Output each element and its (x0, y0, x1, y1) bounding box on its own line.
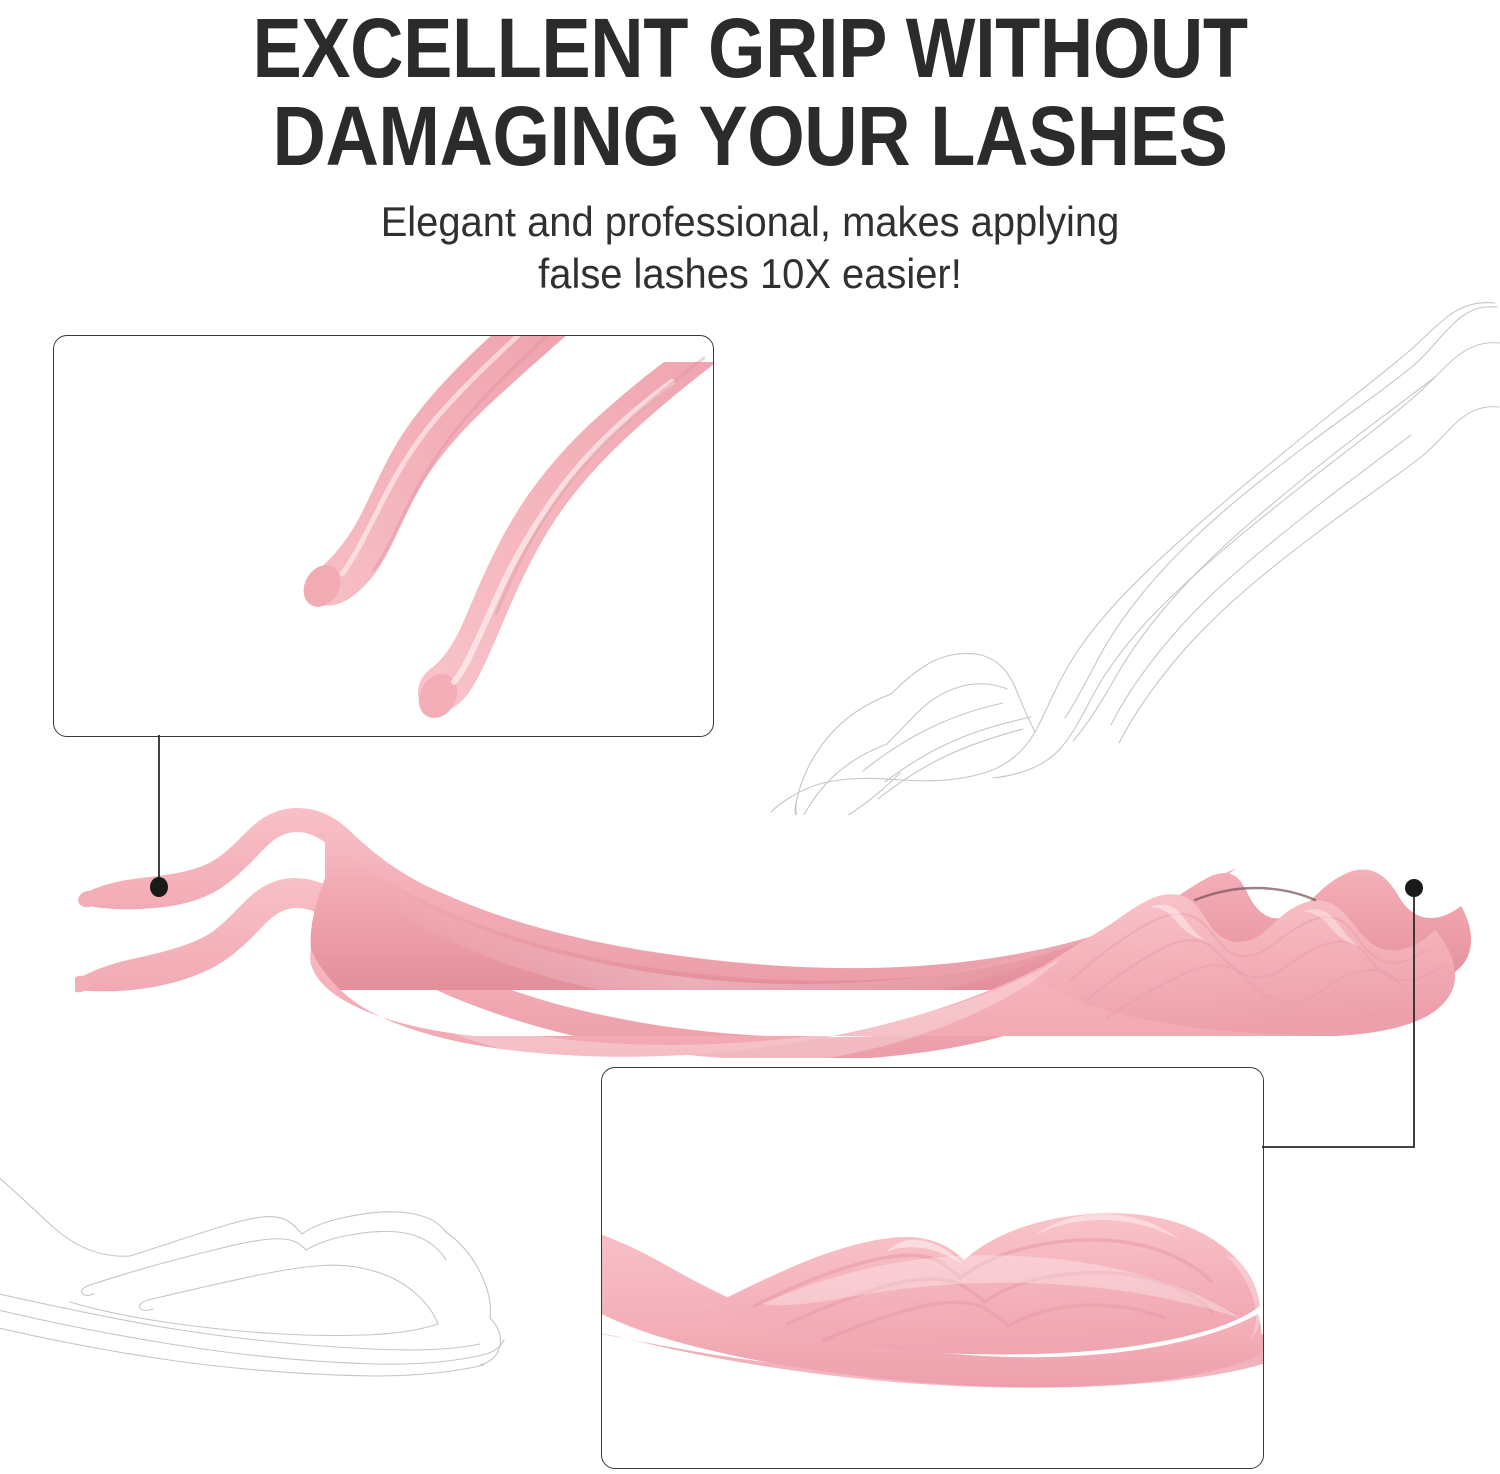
headline-line-2: DAMAGING YOUR LASHES (90, 90, 1410, 178)
page-subtitle: Elegant and professional, makes applying… (38, 178, 1463, 300)
ghost-outline-top-right (735, 285, 1500, 815)
header-text-block: EXCELLENT GRIP WITHOUT DAMAGING YOUR LAS… (0, 0, 1500, 300)
page-headline: EXCELLENT GRIP WITHOUT DAMAGING YOUR LAS… (90, 0, 1410, 178)
tip-detail-callout (53, 335, 714, 737)
subtitle-line-1: Elegant and professional, makes applying (38, 196, 1463, 248)
ghost-outline-bottom-left (0, 1150, 570, 1450)
headline-line-1: EXCELLENT GRIP WITHOUT (90, 0, 1410, 90)
grip-detail-callout (601, 1067, 1264, 1469)
main-product-image (75, 788, 1475, 1058)
subtitle-line-2: false lashes 10X easier! (38, 248, 1463, 300)
